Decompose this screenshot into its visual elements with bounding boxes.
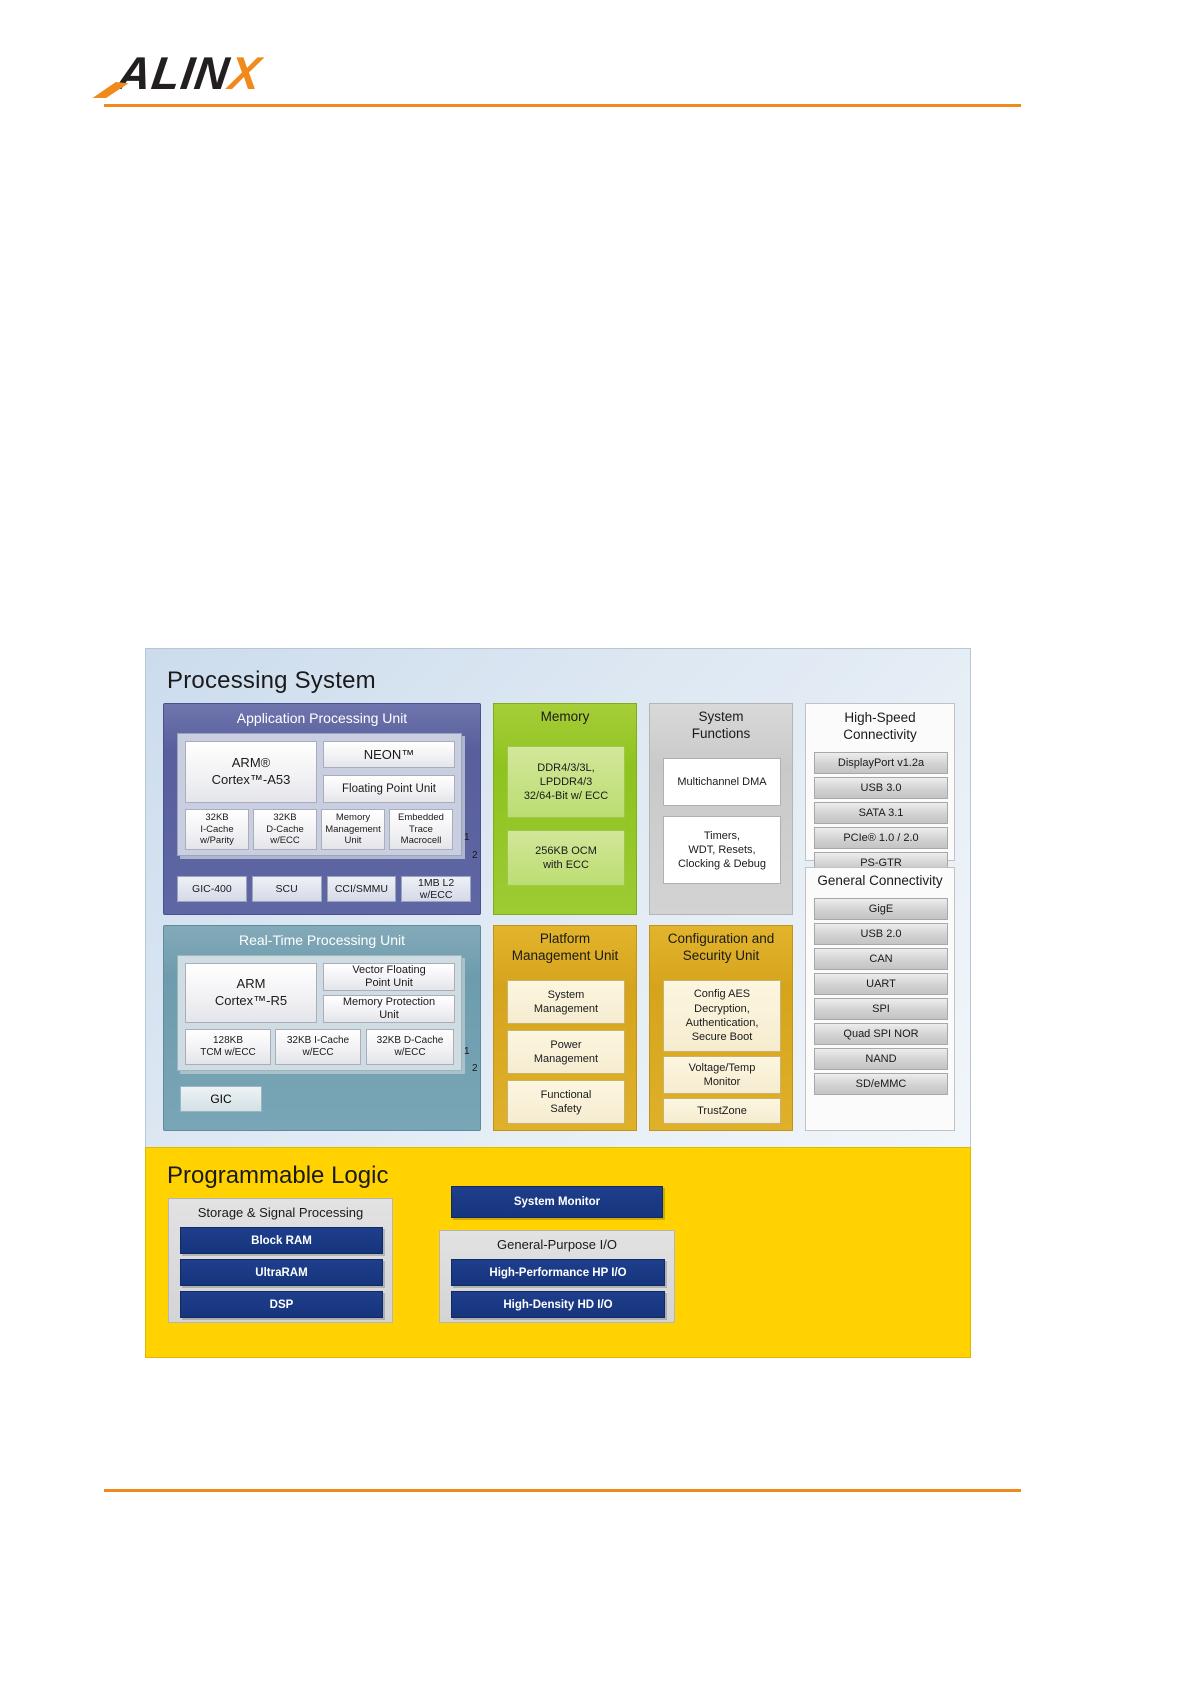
rpu-tcm-l2: TCM w/ECC	[200, 1047, 256, 1059]
rpu-stack-index-1: 1	[464, 1046, 470, 1057]
rpu-stack-index-2: 2	[472, 1063, 478, 1074]
apu-cache-icache[interactable]: 32KB I-Cache w/Parity	[185, 809, 249, 850]
pmu-pwrmgmt-line1: Power	[550, 1038, 581, 1052]
memory-ocm-line2: with ECC	[543, 858, 589, 872]
apu-dcache-l2: D-Cache	[266, 824, 304, 835]
rpu-vfpu-card[interactable]: Vector Floating Point Unit	[323, 963, 455, 991]
memory-ddr-line1: DDR4/3/3L,	[537, 761, 594, 775]
csu-item-config-aes[interactable]: Config AES Decryption, Authentication, S…	[663, 980, 781, 1052]
rpu-tcm-card[interactable]: 128KB TCM w/ECC	[185, 1029, 271, 1065]
apu-cache-dcache[interactable]: 32KB D-Cache w/ECC	[253, 809, 317, 850]
mpsoc-block-diagram: Processing System Application Processing…	[145, 648, 971, 1358]
apu-mmu-l3: Unit	[345, 835, 362, 846]
hsc-title-line1: High-Speed	[806, 710, 954, 727]
pmu-sysmgmt-line1: System	[548, 988, 585, 1002]
page-header: ALINX	[0, 0, 1191, 110]
rpu-icache-card[interactable]: 32KB I-Cache w/ECC	[275, 1029, 361, 1065]
csu-aes-line4: Secure Boot	[692, 1030, 753, 1044]
footer-divider	[104, 1489, 1021, 1492]
logo-text-main: ALIN	[114, 47, 233, 99]
rpu-mpu-line1: Memory Protection	[343, 996, 435, 1009]
sysfn-timers-line1: Timers,	[704, 829, 740, 843]
hsc-item-usb3[interactable]: USB 3.0	[814, 777, 948, 799]
gconn-item-can[interactable]: CAN	[814, 948, 948, 970]
csu-item-trustzone[interactable]: TrustZone	[663, 1098, 781, 1124]
apu-l2cache-chip[interactable]: 1MB L2 w/ECC	[401, 876, 471, 902]
apu-gic400-chip[interactable]: GIC-400	[177, 876, 247, 902]
rpu-vfpu-line1: Vector Floating	[352, 964, 425, 977]
pmu-pwrmgmt-line2: Management	[534, 1052, 598, 1066]
header-divider	[104, 104, 1021, 107]
rpu-title: Real-Time Processing Unit	[164, 926, 480, 950]
memory-ddr-item[interactable]: DDR4/3/3L, LPDDR4/3 32/64-Bit w/ ECC	[507, 746, 625, 818]
apu-mmu-card[interactable]: Memory Management Unit	[321, 809, 385, 850]
system-functions-block[interactable]: System Functions Multichannel DMA Timers…	[649, 703, 793, 915]
apu-icache-l2: I-Cache	[200, 824, 233, 835]
memory-ddr-line3: 32/64-Bit w/ ECC	[524, 789, 608, 803]
pl-item-block-ram[interactable]: Block RAM	[180, 1227, 383, 1254]
gconn-item-nand[interactable]: NAND	[814, 1048, 948, 1070]
hsc-item-displayport[interactable]: DisplayPort v1.2a	[814, 752, 948, 774]
apu-inner-panel: ARM® Cortex™-A53 NEON™ Floating Point Un…	[177, 733, 462, 856]
gconn-item-qspi[interactable]: Quad SPI NOR	[814, 1023, 948, 1045]
apu-stack-index-1: 1	[464, 832, 470, 843]
csu-aes-line3: Authentication,	[686, 1016, 759, 1030]
memory-ddr-line2: LPDDR4/3	[540, 775, 593, 789]
rpu-vfpu-line2: Point Unit	[365, 977, 413, 990]
gconn-item-spi[interactable]: SPI	[814, 998, 948, 1020]
hsc-title-line2: Connectivity	[806, 727, 954, 744]
csu-title: Configuration and Security Unit	[650, 926, 792, 965]
hsc-title: High-Speed Connectivity	[806, 704, 954, 744]
system-functions-title-line1: System	[650, 709, 792, 726]
gconn-item-sdemmc[interactable]: SD/eMMC	[814, 1073, 948, 1095]
configuration-security-unit-block[interactable]: Configuration and Security Unit Config A…	[649, 925, 793, 1131]
memory-block[interactable]: Memory DDR4/3/3L, LPDDR4/3 32/64-Bit w/ …	[493, 703, 637, 915]
rpu-core-line2: Cortex™-R5	[215, 993, 287, 1010]
general-purpose-io-group[interactable]: General-Purpose I/O High-Performance HP …	[439, 1230, 675, 1323]
pl-item-hp-io[interactable]: High-Performance HP I/O	[451, 1259, 665, 1286]
rpu-dcache-card[interactable]: 32KB D-Cache w/ECC	[366, 1029, 454, 1065]
alinx-logo: ALINX	[114, 46, 265, 100]
logo-text-x: X	[226, 47, 265, 99]
csu-aes-line2: Decryption,	[694, 1002, 750, 1016]
apu-etm-l3: Macrocell	[401, 835, 442, 846]
sysfn-timers-line3: Clocking & Debug	[678, 857, 766, 871]
apu-core-line1: ARM®	[232, 755, 270, 772]
system-functions-timers-item[interactable]: Timers, WDT, Resets, Clocking & Debug	[663, 816, 781, 884]
memory-ocm-line1: 256KB OCM	[535, 844, 597, 858]
rpu-gic-chip[interactable]: GIC	[180, 1086, 262, 1112]
pmu-item-system-management[interactable]: System Management	[507, 980, 625, 1024]
gconn-item-usb2[interactable]: USB 2.0	[814, 923, 948, 945]
csu-title-line2: Security Unit	[650, 948, 792, 965]
system-functions-dma-item[interactable]: Multichannel DMA	[663, 758, 781, 806]
system-functions-title: System Functions	[650, 704, 792, 743]
general-connectivity-title: General Connectivity	[806, 868, 954, 890]
apu-core-card[interactable]: ARM® Cortex™-A53	[185, 741, 317, 803]
csu-title-line1: Configuration and	[650, 931, 792, 948]
rpu-tcm-l1: 128KB	[213, 1035, 243, 1047]
general-connectivity-block[interactable]: General Connectivity GigE USB 2.0 CAN UA…	[805, 867, 955, 1131]
apu-etm-l2: Trace	[409, 824, 433, 835]
apu-etm-card[interactable]: Embedded Trace Macrocell	[389, 809, 453, 850]
rpu-icache-l2: w/ECC	[302, 1047, 333, 1059]
rpu-inner-panel: ARM Cortex™-R5 Vector Floating Point Uni…	[177, 955, 462, 1071]
apu-mmu-l2: Management	[325, 824, 380, 835]
rpu-mpu-line2: Unit	[379, 1009, 399, 1022]
gconn-item-gige[interactable]: GigE	[814, 898, 948, 920]
rpu-icache-l1: 32KB I-Cache	[287, 1035, 349, 1047]
system-functions-title-line2: Functions	[650, 726, 792, 743]
apu-stack-index-2: 2	[472, 850, 478, 861]
apu-title: Application Processing Unit	[164, 704, 480, 728]
rpu-dcache-l2: w/ECC	[394, 1047, 425, 1059]
apu-dcache-l1: 32KB	[273, 812, 296, 823]
rpu-core-line1: ARM	[237, 976, 266, 993]
csu-aes-line1: Config AES	[694, 987, 750, 1001]
rpu-mpu-card[interactable]: Memory Protection Unit	[323, 995, 455, 1023]
pmu-item-power-management[interactable]: Power Management	[507, 1030, 625, 1074]
apu-etm-l1: Embedded	[398, 812, 444, 823]
sysfn-timers-line2: WDT, Resets,	[688, 843, 755, 857]
apu-fpu-card[interactable]: Floating Point Unit	[323, 775, 455, 803]
gconn-item-uart[interactable]: UART	[814, 973, 948, 995]
apu-dcache-l3: w/ECC	[270, 835, 300, 846]
application-processing-unit-block[interactable]: Application Processing Unit ARM® Cortex™…	[163, 703, 481, 915]
real-time-processing-unit-block[interactable]: Real-Time Processing Unit ARM Cortex™-R5…	[163, 925, 481, 1131]
pl-item-dsp[interactable]: DSP	[180, 1291, 383, 1318]
platform-management-unit-block[interactable]: Platform Management Unit System Manageme…	[493, 925, 637, 1131]
csu-vtmon-line1: Voltage/Temp	[689, 1061, 756, 1075]
memory-title: Memory	[494, 704, 636, 726]
apu-bottom-row: GIC-400 SCU CCI/SMMU 1MB L2 w/ECC	[177, 876, 471, 902]
pmu-title-line2: Management Unit	[494, 948, 636, 965]
pmu-funcsafety-line1: Functional	[541, 1088, 592, 1102]
pmu-title-line1: Platform	[494, 931, 636, 948]
hsc-item-sata[interactable]: SATA 3.1	[814, 802, 948, 824]
apu-core-line2: Cortex™-A53	[212, 772, 291, 789]
programmable-logic-panel: Programmable Logic Storage & Signal Proc…	[145, 1147, 971, 1358]
gpio-group-title: General-Purpose I/O	[440, 1231, 674, 1252]
pmu-sysmgmt-line2: Management	[534, 1002, 598, 1016]
storage-signal-processing-group[interactable]: Storage & Signal Processing Block RAM Ul…	[168, 1198, 393, 1323]
pl-item-hd-io[interactable]: High-Density HD I/O	[451, 1291, 665, 1318]
storage-group-title: Storage & Signal Processing	[169, 1199, 392, 1220]
memory-ocm-item[interactable]: 256KB OCM with ECC	[507, 830, 625, 886]
apu-mmu-l1: Memory	[336, 812, 370, 823]
high-speed-connectivity-block[interactable]: High-Speed Connectivity DisplayPort v1.2…	[805, 703, 955, 861]
apu-icache-l1: 32KB	[205, 812, 228, 823]
rpu-core-card[interactable]: ARM Cortex™-R5	[185, 963, 317, 1023]
pl-item-ultraram[interactable]: UltraRAM	[180, 1259, 383, 1286]
processing-system-title: Processing System	[167, 667, 376, 695]
pmu-title: Platform Management Unit	[494, 926, 636, 965]
apu-scu-chip[interactable]: SCU	[252, 876, 322, 902]
apu-icache-l3: w/Parity	[200, 835, 234, 846]
rpu-dcache-l1: 32KB D-Cache	[377, 1035, 444, 1047]
pl-item-system-monitor[interactable]: System Monitor	[451, 1186, 663, 1218]
csu-item-voltage-temp-monitor[interactable]: Voltage/Temp Monitor	[663, 1056, 781, 1094]
hsc-item-pcie[interactable]: PCIe® 1.0 / 2.0	[814, 827, 948, 849]
apu-neon-card[interactable]: NEON™	[323, 741, 455, 768]
csu-vtmon-line2: Monitor	[704, 1075, 741, 1089]
pmu-item-functional-safety[interactable]: Functional Safety	[507, 1080, 625, 1124]
apu-ccismmu-chip[interactable]: CCI/SMMU	[327, 876, 397, 902]
processing-system-panel: Processing System Application Processing…	[145, 648, 971, 1148]
pmu-funcsafety-line2: Safety	[550, 1102, 581, 1116]
programmable-logic-title: Programmable Logic	[167, 1162, 388, 1190]
